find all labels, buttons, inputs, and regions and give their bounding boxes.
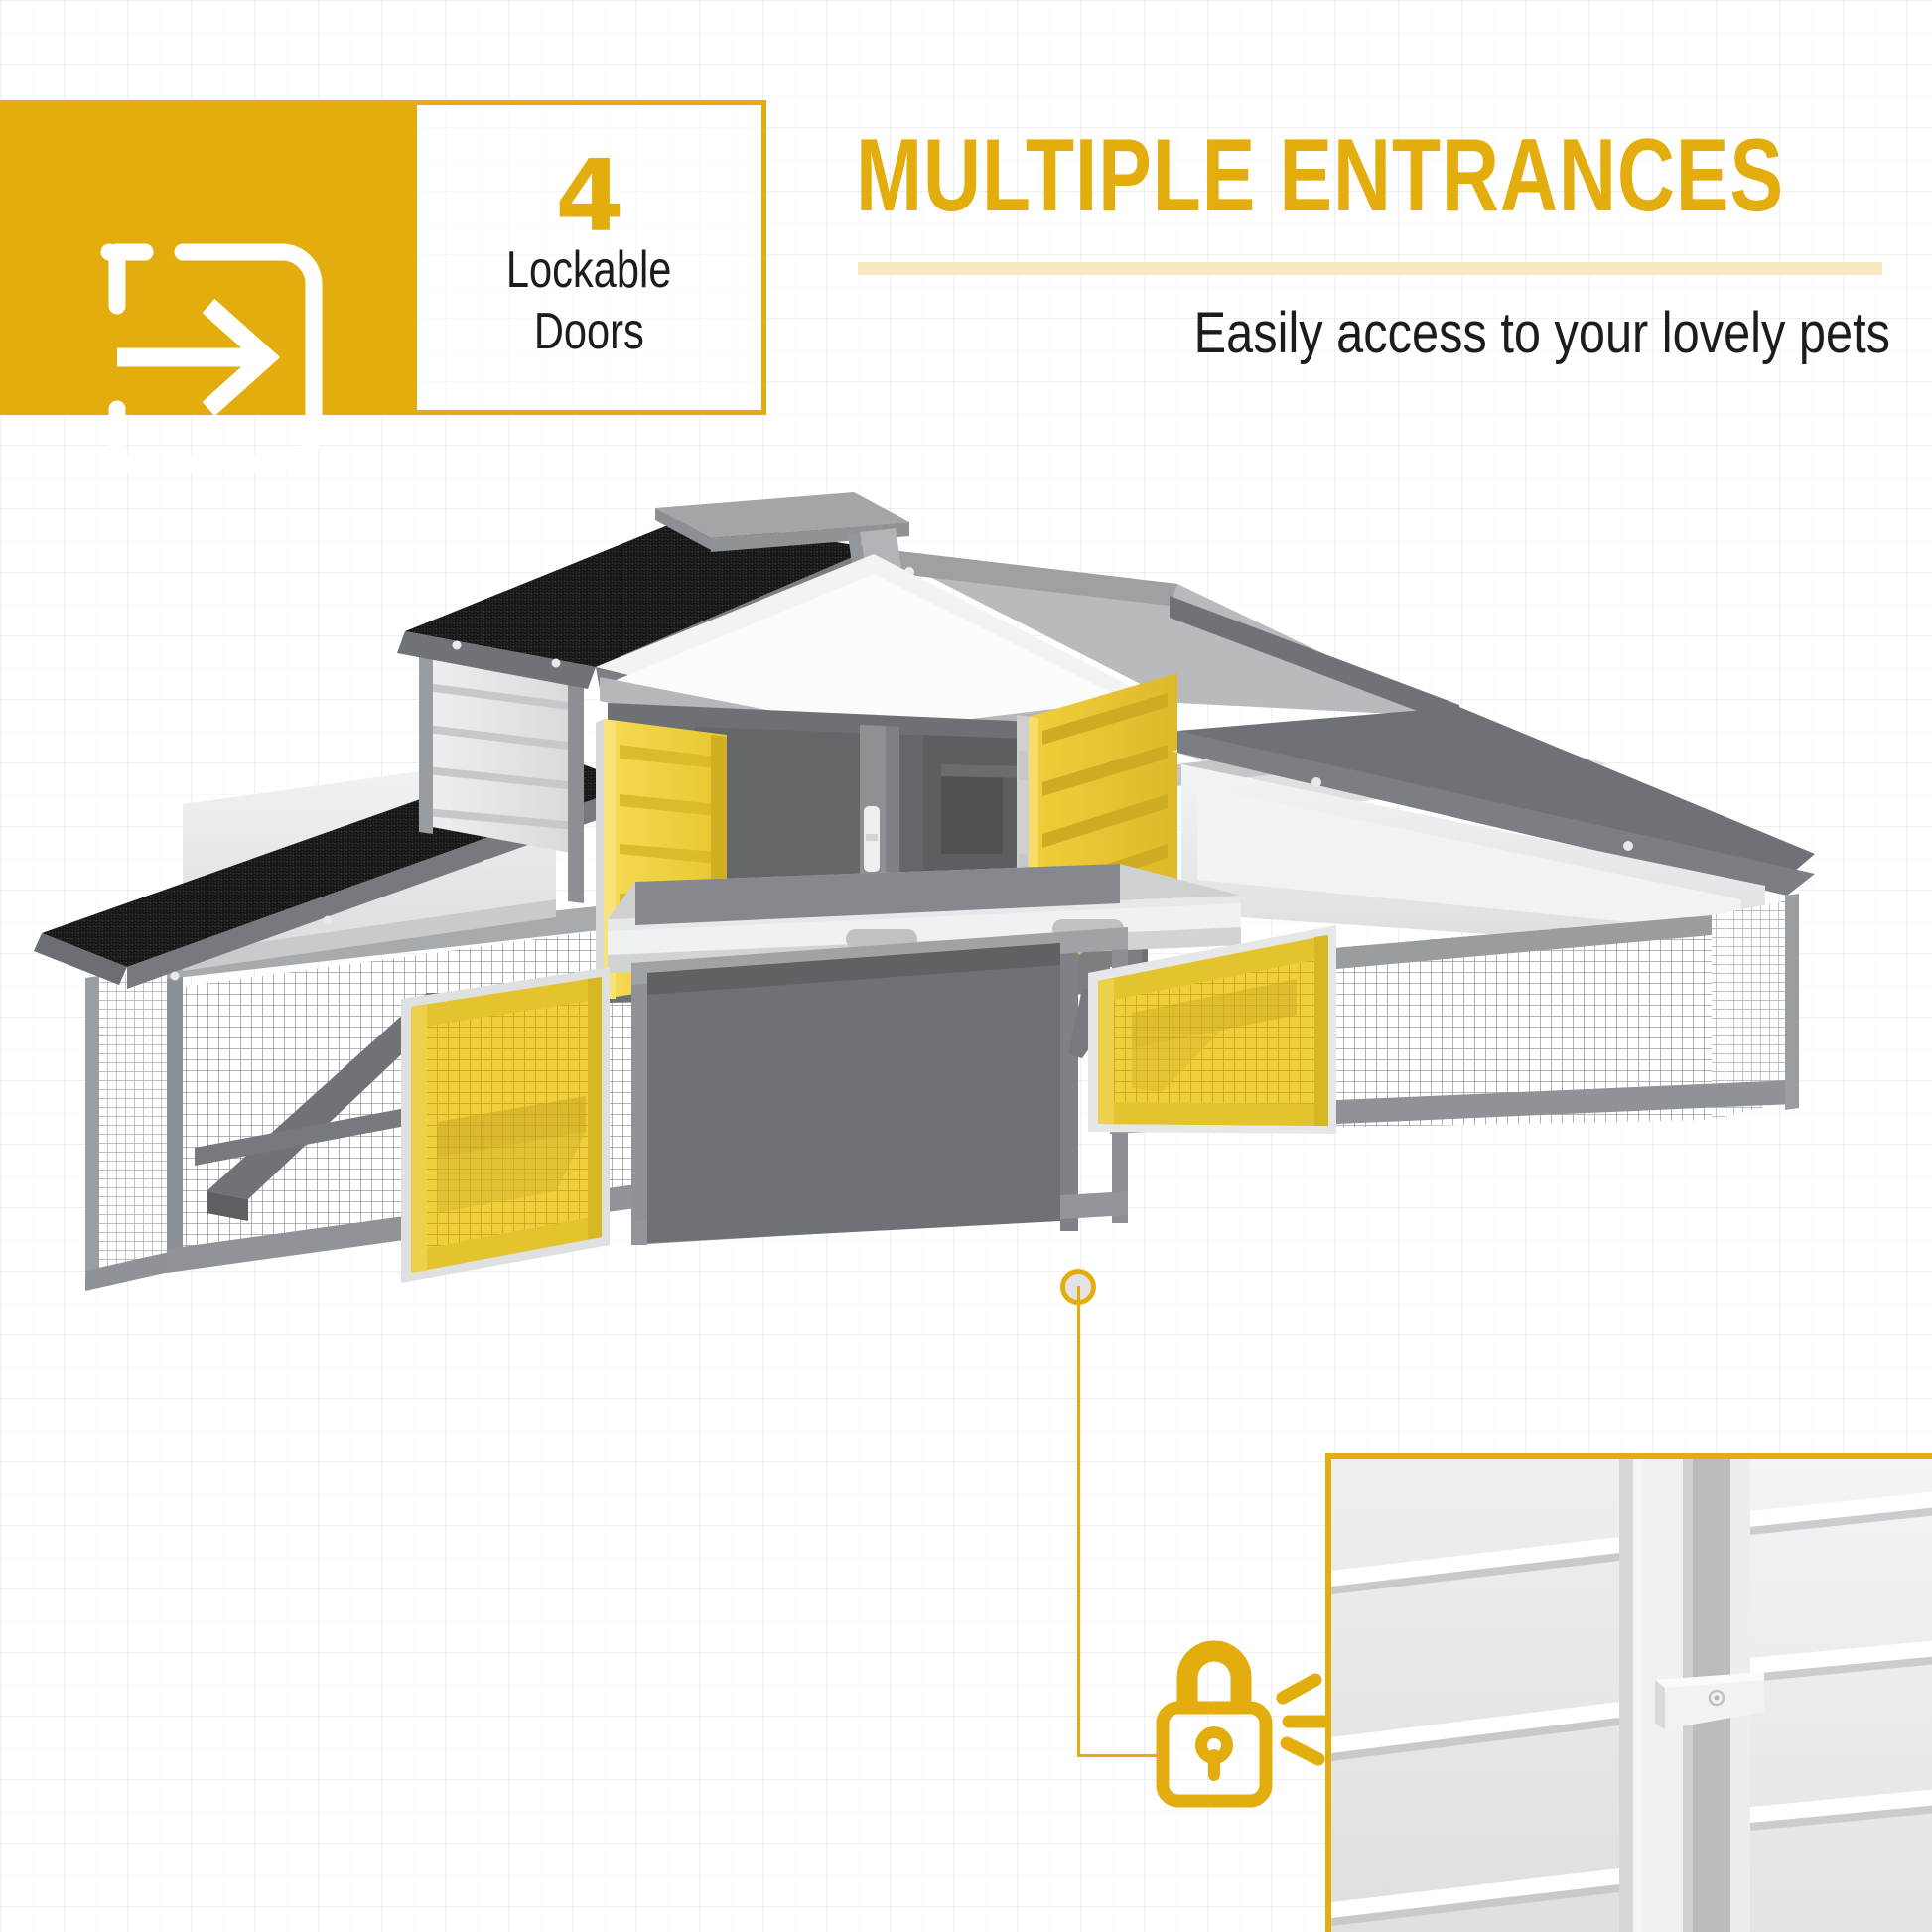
page-subtitle: Easily access to your lovely pets xyxy=(1023,298,1890,377)
latch-closeup-detail xyxy=(1325,1453,1932,1932)
badge-label-line-1: Lockable xyxy=(506,240,672,301)
callout-line-vertical xyxy=(1077,1286,1080,1757)
badge-count: 4 xyxy=(555,153,623,240)
product-illustration xyxy=(0,437,1932,1440)
product-image xyxy=(0,437,1932,1440)
callout-line-horizontal xyxy=(1077,1754,1163,1757)
badge-label-line-2: Doors xyxy=(534,302,644,362)
title-underline-rule xyxy=(858,262,1882,275)
page-title: MULTIPLE ENTRANCES xyxy=(856,117,1656,246)
feature-badge-icon-panel xyxy=(0,100,417,415)
feature-badge-text-panel: 4 Lockable Doors xyxy=(417,100,766,415)
latch-closeup-image xyxy=(1331,1459,1932,1932)
unlocked-padlock-icon xyxy=(1154,1626,1342,1821)
